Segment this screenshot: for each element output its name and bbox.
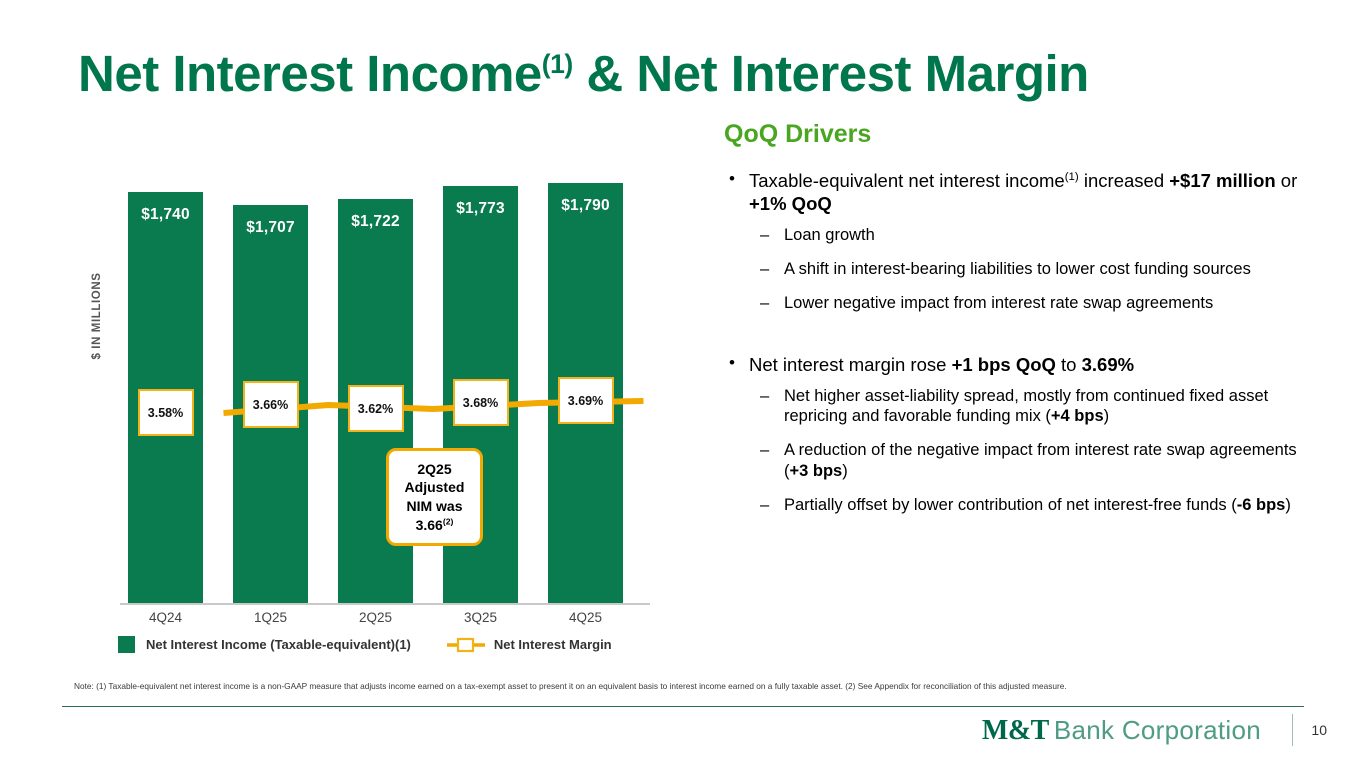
nim-marker-4Q25: 3.69% <box>558 377 614 424</box>
page-title: Net Interest Income(1) & Net Interest Ma… <box>78 44 1089 103</box>
nim-marker-4Q24: 3.58% <box>138 389 194 436</box>
callout-line-3: NIM was <box>406 497 462 516</box>
subbullet-text-post: ) <box>1285 496 1291 514</box>
subbullet-text-pre: Partially offset by lower contribution o… <box>784 496 1237 514</box>
driver-bullet-nii: Taxable-equivalent net interest income(1… <box>724 169 1304 216</box>
nim-marker-3Q25: 3.68% <box>453 379 509 426</box>
qoq-drivers-heading: QoQ Drivers <box>724 120 1304 149</box>
bullet-text-pre: Taxable-equivalent net interest income <box>749 170 1065 191</box>
slide-footnote: Note: (1) Taxable-equivalent net interes… <box>74 682 1234 692</box>
driver-subbullet: A shift in interest-bearing liabilities … <box>724 259 1304 279</box>
logo-mark-mt: M&T <box>982 715 1049 747</box>
legend-label-line: Net Interest Margin <box>494 637 612 652</box>
page-title-main: Net Interest Income <box>78 45 542 102</box>
chart-legend: Net Interest Income (Taxable-equivalent)… <box>118 636 612 653</box>
callout-line-1: 2Q25 <box>417 460 451 479</box>
driver-subbullet: A reduction of the negative impact from … <box>724 440 1304 481</box>
page-number: 10 <box>1311 722 1327 738</box>
driver-subbullet: Lower negative impact from interest rate… <box>724 293 1304 313</box>
company-logo: M&T Bank Corporation <box>982 715 1261 747</box>
nim-value: 3.62% <box>358 402 393 416</box>
subbullet-text-post: ) <box>842 462 848 480</box>
driver-subbullet: Partially offset by lower contribution o… <box>724 495 1304 515</box>
subbullet-text-pre: A reduction of the negative impact from … <box>784 441 1297 479</box>
driver-bullet-nim: Net interest margin rose +1 bps QoQ to 3… <box>724 353 1304 376</box>
x-tick-4Q24: 4Q24 <box>128 610 203 625</box>
nim-value: 3.68% <box>463 396 498 410</box>
callout-line-2: Adjusted <box>405 478 465 497</box>
bullet-text-mid: increased <box>1079 170 1170 191</box>
x-tick-1Q25: 1Q25 <box>233 610 308 625</box>
page-title-rest: & Net Interest Margin <box>573 45 1089 102</box>
bullet-text-pre: Net interest margin rose <box>749 354 952 375</box>
driver-subbullet: Loan growth <box>724 225 1304 245</box>
logo-text-bank-corporation: Bank Corporation <box>1054 715 1261 746</box>
callout-footnote-marker: (2) <box>443 516 454 526</box>
subbullet-text-post: ) <box>1104 407 1110 425</box>
nim-marker-1Q25: 3.66% <box>243 381 299 428</box>
chart-plot-area: $1,740 $1,707 $1,722 $1,773 $1,790 3.58%… <box>128 160 648 605</box>
footer-vertical-divider <box>1292 714 1293 746</box>
x-tick-3Q25: 3Q25 <box>443 610 518 625</box>
subbullet-text-pre: Net higher asset-liability spread, mostl… <box>784 387 1268 425</box>
page-title-footnote-marker: (1) <box>542 49 573 79</box>
bullet-emphasis-1: +1 bps QoQ <box>952 354 1056 375</box>
callout-line-4: 3.66(2) <box>416 516 454 535</box>
bullet-footnote-marker: (1) <box>1065 171 1079 183</box>
x-tick-2Q25: 2Q25 <box>338 610 413 625</box>
nim-marker-2Q25: 3.62% <box>348 385 404 432</box>
footer-divider-rule <box>62 706 1304 707</box>
bullet-text-mid: to <box>1056 354 1082 375</box>
qoq-drivers-panel: QoQ Drivers Taxable-equivalent net inter… <box>724 120 1304 529</box>
callout-value: 3.66 <box>416 517 443 533</box>
legend-label-bar: Net Interest Income (Taxable-equivalent)… <box>146 637 411 652</box>
x-tick-4Q25: 4Q25 <box>548 610 623 625</box>
y-axis-label: $ IN MILLIONS <box>91 241 103 391</box>
bullet-emphasis-2: 3.69% <box>1082 354 1134 375</box>
bar-value-label: $1,722 <box>338 213 413 231</box>
legend-swatch-bar <box>118 636 135 653</box>
bullet-emphasis-2: +1% QoQ <box>749 193 832 214</box>
bullet-emphasis-1: +$17 million <box>1169 170 1275 191</box>
section-spacer <box>724 327 1304 353</box>
bar-value-label: $1,707 <box>233 219 308 237</box>
nim-value: 3.69% <box>568 394 603 408</box>
bar-value-label: $1,790 <box>548 197 623 215</box>
subbullet-emphasis: -6 bps <box>1237 496 1286 514</box>
bar-value-label: $1,740 <box>128 206 203 224</box>
legend-swatch-line <box>447 637 485 653</box>
bar-value-label: $1,773 <box>443 200 518 218</box>
nii-nim-chart: $ IN MILLIONS $1,740 $1,707 $1,722 $1,77… <box>70 160 680 670</box>
bullet-text-mid2: or <box>1276 170 1298 191</box>
subbullet-emphasis: +4 bps <box>1051 407 1104 425</box>
nim-value: 3.66% <box>253 398 288 412</box>
subbullet-emphasis: +3 bps <box>790 462 843 480</box>
nim-value: 3.58% <box>148 406 183 420</box>
driver-subbullet: Net higher asset-liability spread, mostl… <box>724 386 1304 427</box>
x-axis-line <box>120 603 650 605</box>
adjusted-nim-callout: 2Q25 Adjusted NIM was 3.66(2) <box>386 448 483 546</box>
